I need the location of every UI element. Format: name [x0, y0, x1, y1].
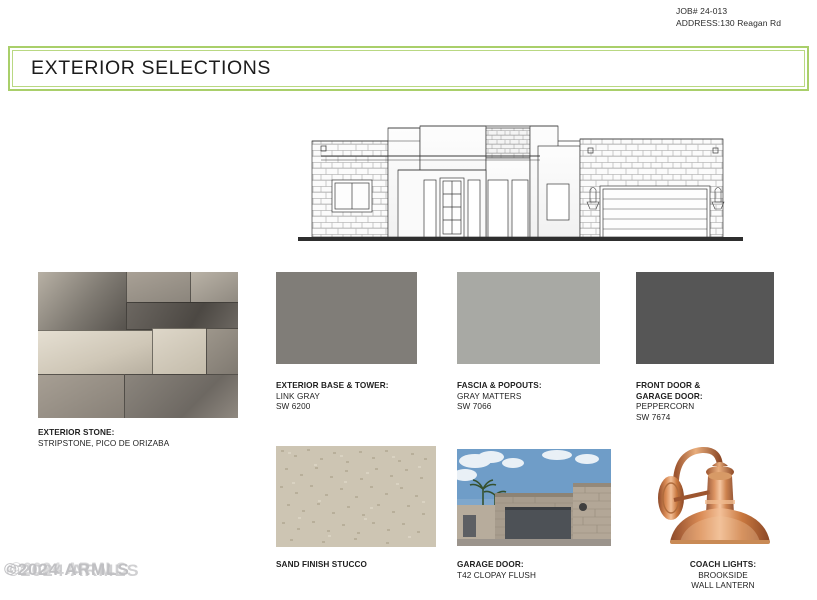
swatch-coach-light-photo — [636, 442, 810, 550]
exterior-selections-sheet: JOB# 24-013 ADDRESS:130 Reagan Rd EXTERI… — [0, 0, 817, 600]
page-title: EXTERIOR SELECTIONS — [13, 57, 271, 80]
swatch-exterior-stone — [38, 272, 238, 418]
swatch-garage-door-photo — [457, 449, 611, 546]
caption-garage-door: GARAGE DOOR: T42 CLOPAY FLUSH — [457, 560, 657, 581]
caption-exterior-stone: EXTERIOR STONE: STRIPSTONE, PICO DE ORIZ… — [38, 428, 268, 449]
watermark: ©2024 ARMLS ©2024 ARMLS ©2024 ARMLS — [4, 560, 194, 594]
caption-front-door-garage-door: FRONT DOOR & GARAGE DOOR: PEPPERCORN SW … — [636, 381, 816, 423]
caption-exterior-base-tower: EXTERIOR BASE & TOWER: LINK GRAY SW 6200 — [276, 381, 456, 413]
job-info: JOB# 24-013 ADDRESS:130 Reagan Rd — [676, 6, 781, 29]
swatch-front-door-garage-door — [636, 272, 774, 364]
caption-sand-finish-stucco: SAND FINISH STUCCO — [276, 560, 476, 571]
title-banner-inner: EXTERIOR SELECTIONS — [12, 50, 805, 87]
caption-coach-lights: COACH LIGHTS: BROOKSIDE WALL LANTERN — [636, 560, 810, 592]
watermark-text-3: ©2024 ARMLS — [10, 559, 127, 579]
swatch-exterior-base-tower — [276, 272, 417, 364]
job-address: ADDRESS:130 Reagan Rd — [676, 18, 781, 30]
swatch-sand-finish-stucco — [276, 446, 436, 547]
job-number: JOB# 24-013 — [676, 6, 781, 18]
caption-fascia-popouts: FASCIA & POPOUTS: GRAY MATTERS SW 7066 — [457, 381, 637, 413]
swatch-fascia-popouts — [457, 272, 600, 364]
title-banner: EXTERIOR SELECTIONS — [8, 46, 809, 91]
front-elevation-drawing — [288, 108, 750, 248]
